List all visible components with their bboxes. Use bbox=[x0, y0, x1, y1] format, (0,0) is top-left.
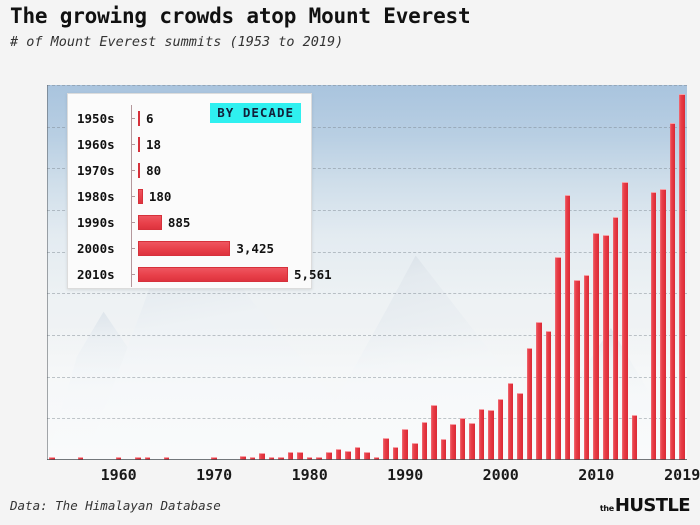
inset-bar bbox=[138, 137, 140, 152]
inset-row: 1950s6 bbox=[77, 105, 305, 131]
x-axis-tick-label: 1960 bbox=[101, 466, 137, 484]
bar bbox=[574, 280, 580, 460]
bar bbox=[651, 192, 657, 460]
inset-value-label: 3,425 bbox=[236, 241, 274, 256]
bar bbox=[431, 405, 437, 460]
inset-value-label: 885 bbox=[168, 215, 191, 230]
bar bbox=[584, 275, 590, 460]
bar bbox=[441, 439, 447, 460]
inset-axis bbox=[131, 131, 138, 157]
inset-bar-wrap: 885 bbox=[138, 209, 305, 235]
inset-value-label: 6 bbox=[146, 111, 154, 126]
bar bbox=[536, 322, 542, 461]
inset-bar-wrap: 6 bbox=[138, 105, 305, 131]
x-axis-tick-label: 2019 bbox=[664, 466, 700, 484]
bar bbox=[660, 189, 666, 460]
inset-axis bbox=[131, 157, 138, 183]
bar bbox=[622, 182, 628, 460]
logo-the-text: the bbox=[600, 505, 614, 515]
inset-axis bbox=[131, 261, 138, 287]
bar bbox=[546, 331, 552, 460]
bar bbox=[679, 94, 685, 460]
gridline bbox=[47, 335, 687, 336]
inset-axis bbox=[131, 183, 138, 209]
bar bbox=[527, 348, 533, 460]
inset-decade-label: 2000s bbox=[77, 241, 131, 256]
inset-bar-wrap: 18 bbox=[138, 131, 305, 157]
inset-row: 2000s3,425 bbox=[77, 235, 305, 261]
inset-decade-label: 1950s bbox=[77, 111, 131, 126]
gridline bbox=[47, 418, 687, 419]
inset-bar-wrap: 3,425 bbox=[138, 235, 305, 261]
x-axis-tick-label: 1990 bbox=[387, 466, 423, 484]
inset-bar-wrap: 180 bbox=[138, 183, 305, 209]
inset-value-label: 18 bbox=[146, 137, 161, 152]
inset-bar bbox=[138, 111, 140, 126]
bar bbox=[670, 123, 676, 460]
hustle-logo: the HUSTLE bbox=[600, 497, 690, 515]
bar bbox=[450, 424, 456, 460]
inset-row: 1960s18 bbox=[77, 131, 305, 157]
inset-bar bbox=[138, 241, 230, 256]
inset-row: 1990s885 bbox=[77, 209, 305, 235]
bar bbox=[469, 423, 475, 460]
bar bbox=[565, 195, 571, 460]
gridline bbox=[47, 85, 687, 86]
bar bbox=[412, 443, 418, 460]
inset-decade-label: 2010s bbox=[77, 267, 131, 282]
inset-decade-label: 1970s bbox=[77, 163, 131, 178]
x-axis-tick-label: 2010 bbox=[578, 466, 614, 484]
inset-bar-wrap: 80 bbox=[138, 157, 305, 183]
inset-row: 1970s80 bbox=[77, 157, 305, 183]
bar bbox=[422, 422, 428, 461]
inset-row: 1980s180 bbox=[77, 183, 305, 209]
bar bbox=[632, 415, 638, 460]
gridline bbox=[47, 377, 687, 378]
bar bbox=[479, 409, 485, 460]
source-note: Data: The Himalayan Database bbox=[10, 498, 221, 513]
inset-value-label: 80 bbox=[146, 163, 161, 178]
bar bbox=[603, 235, 609, 460]
inset-axis bbox=[131, 209, 138, 235]
gridline bbox=[47, 293, 687, 294]
inset-decade-label: 1980s bbox=[77, 189, 131, 204]
inset-decade-label: 1960s bbox=[77, 137, 131, 152]
logo-hustle-text: HUSTLE bbox=[615, 497, 690, 515]
page-subtitle: # of Mount Everest summits (1953 to 2019… bbox=[10, 34, 690, 50]
bar bbox=[593, 233, 599, 460]
inset-bar bbox=[138, 267, 288, 282]
chart-page: The growing crowds atop Mount Everest # … bbox=[0, 0, 700, 525]
bar bbox=[460, 418, 466, 460]
inset-row: 2010s5,561 bbox=[77, 261, 305, 287]
mountain-haze bbox=[47, 325, 687, 460]
bar bbox=[613, 217, 619, 460]
inset-rows: 1950s61960s181970s801980s1801990s8852000… bbox=[77, 105, 305, 283]
bar bbox=[555, 257, 561, 461]
x-axis-tick-label: 2000 bbox=[483, 466, 519, 484]
inset-value-label: 180 bbox=[149, 189, 172, 204]
bar bbox=[383, 438, 389, 460]
bar bbox=[498, 399, 504, 460]
y-axis-line bbox=[47, 85, 48, 460]
bar bbox=[355, 447, 361, 461]
bar bbox=[488, 410, 494, 460]
inset-bar bbox=[138, 189, 143, 204]
x-axis-tick-label: 1980 bbox=[292, 466, 328, 484]
x-axis-tick-label: 1970 bbox=[196, 466, 232, 484]
page-title: The growing crowds atop Mount Everest bbox=[10, 4, 690, 28]
bar bbox=[517, 393, 523, 460]
by-decade-inset: BY DECADE 1950s61960s181970s801980s18019… bbox=[67, 93, 312, 289]
bar bbox=[402, 429, 408, 460]
inset-axis bbox=[131, 235, 138, 261]
inset-axis bbox=[131, 105, 138, 131]
bar bbox=[508, 383, 514, 460]
inset-bar bbox=[138, 215, 162, 230]
x-axis-labels: 1960197019801990200020102019 bbox=[47, 466, 687, 488]
inset-decade-label: 1990s bbox=[77, 215, 131, 230]
inset-value-label: 5,561 bbox=[294, 267, 332, 282]
header: The growing crowds atop Mount Everest # … bbox=[10, 4, 690, 50]
inset-bar bbox=[138, 163, 140, 178]
inset-bar-wrap: 5,561 bbox=[138, 261, 332, 287]
